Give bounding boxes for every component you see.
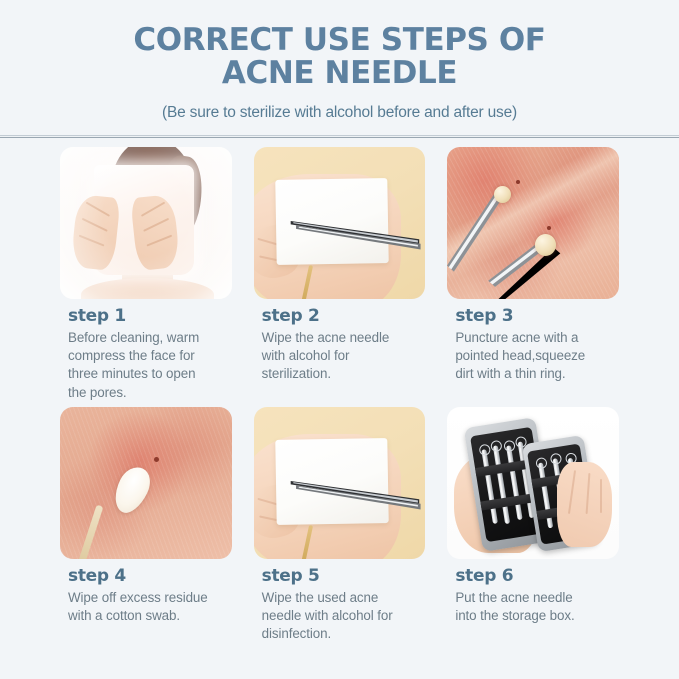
step-card-2: step 2 Wipe the acne needle with alcohol… — [254, 147, 426, 402]
step-1-label: step 1 — [68, 306, 228, 326]
step-2-caption: step 2 Wipe the acne needle with alcohol… — [254, 299, 426, 384]
step-3-image — [447, 147, 619, 299]
step-4-label: step 4 — [68, 566, 228, 586]
step-1-image — [60, 147, 232, 299]
step-card-4: step 4 Wipe off excess residue with a co… — [60, 407, 232, 644]
step-6-text: Put the acne needle into the storage box… — [455, 589, 615, 625]
step-6-image — [447, 407, 619, 559]
acne-needle-icon — [288, 205, 422, 251]
step-6-caption: step 6 Put the acne needle into the stor… — [447, 559, 619, 625]
steps-grid: step 1 Before cleaning, warm compress th… — [0, 138, 679, 644]
step-1-text: Before cleaning, warm compress the face … — [68, 329, 228, 402]
fingers-shape-icon — [557, 462, 612, 547]
step-card-6: step 6 Put the acne needle into the stor… — [447, 407, 619, 644]
used-acne-needle-icon — [288, 465, 422, 511]
step-card-1: step 1 Before cleaning, warm compress th… — [60, 147, 232, 402]
step-2-text: Wipe the acne needle with alcohol for st… — [262, 329, 422, 384]
step-5-image — [254, 407, 426, 559]
step-4-caption: step 4 Wipe off excess residue with a co… — [60, 559, 232, 625]
step-card-5: step 5 Wipe the used acne needle with al… — [254, 407, 426, 644]
step-4-text: Wipe off excess residue with a cotton sw… — [68, 589, 228, 625]
step-1-caption: step 1 Before cleaning, warm compress th… — [60, 299, 232, 402]
step-card-3: step 3 Puncture acne with a pointed head… — [447, 147, 619, 402]
acne-needle-tools-icon — [447, 147, 619, 299]
step-2-label: step 2 — [262, 306, 422, 326]
step-2-image — [254, 147, 426, 299]
page-header: CORRECT USE STEPS OF ACNE NEEDLE (Be sur… — [0, 0, 679, 122]
step-4-image — [60, 407, 232, 559]
step-5-caption: step 5 Wipe the used acne needle with al… — [254, 559, 426, 644]
page-title: CORRECT USE STEPS OF ACNE NEEDLE — [40, 18, 639, 91]
page-subtitle: (Be sure to sterilize with alcohol befor… — [40, 104, 639, 122]
step-3-label: step 3 — [455, 306, 615, 326]
step-5-label: step 5 — [262, 566, 422, 586]
step-6-label: step 6 — [455, 566, 615, 586]
page-title-line-2: ACNE NEEDLE — [40, 57, 639, 90]
page-title-line-1: CORRECT USE STEPS OF — [133, 22, 545, 58]
photo-vignette — [60, 147, 232, 299]
step-3-caption: step 3 Puncture acne with a pointed head… — [447, 299, 619, 384]
step-3-text: Puncture acne with a pointed head,squeez… — [455, 329, 615, 384]
step-5-text: Wipe the used acne needle with alcohol f… — [262, 589, 422, 644]
acne-head-2 — [535, 234, 556, 256]
